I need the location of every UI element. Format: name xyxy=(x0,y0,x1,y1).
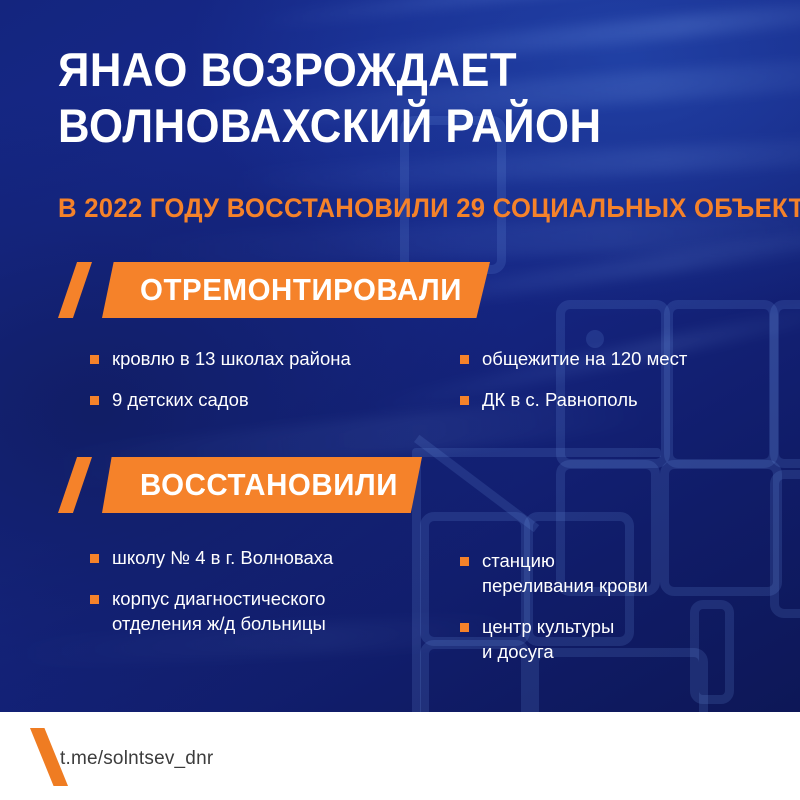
list-repaired-column-2: общежитие на 120 мест ДК в с. Равнополь xyxy=(460,346,780,412)
list-item: корпус диагностического отделения ж/д бо… xyxy=(90,586,430,636)
banner-shape: ОТРЕМОНТИРОВАЛИ xyxy=(102,262,490,318)
bullet-icon xyxy=(90,595,99,604)
page-subtitle: В 2022 ГОДУ ВОССТАНОВИЛИ 29 СОЦИАЛЬНЫХ О… xyxy=(58,192,800,224)
section-banner-restored: ВОССТАНОВИЛИ xyxy=(58,457,458,513)
infographic-poster: ЯНАО ВОЗРОЖДАЕТ ВОЛНОВАХСКИЙ РАЙОН В 202… xyxy=(0,0,800,800)
list-item-label: корпус диагностического отделения ж/д бо… xyxy=(112,586,326,636)
list-item-label: общежитие на 120 мест xyxy=(482,346,687,371)
bullet-icon xyxy=(460,623,469,632)
title-line-2: ВОЛНОВАХСКИЙ РАЙОН xyxy=(58,98,709,154)
list-item-label: кровлю в 13 школах района xyxy=(112,346,351,371)
banner-shape: ВОССТАНОВИЛИ xyxy=(102,457,422,513)
light-streak-icon xyxy=(249,0,800,32)
section-banner-repaired: ОТРЕМОНТИРОВАЛИ xyxy=(58,262,498,318)
list-item-label: школу № 4 в г. Волноваха xyxy=(112,545,333,570)
list-item: школу № 4 в г. Волноваха xyxy=(90,545,430,570)
list-item: 9 детских садов xyxy=(90,387,430,412)
bullet-icon xyxy=(90,355,99,364)
list-item-label: центр культуры и досуга xyxy=(482,614,614,664)
bullet-icon xyxy=(460,557,469,566)
banner-label: ВОССТАНОВИЛИ xyxy=(140,467,398,503)
list-item: общежитие на 120 мест xyxy=(460,346,780,371)
bullet-icon xyxy=(460,355,469,364)
list-item-label: станцию переливания крови xyxy=(482,548,648,598)
footer: t.me/solntsev_dnr ВОССТАНОВИМ ДОНБАСС ВМ… xyxy=(0,712,800,800)
banner-label: ОТРЕМОНТИРОВАЛИ xyxy=(140,272,462,308)
list-repaired-column-1: кровлю в 13 школах района 9 детских садо… xyxy=(90,346,430,412)
list-item: кровлю в 13 школах района xyxy=(90,346,430,371)
list-item-label: 9 детских садов xyxy=(112,387,249,412)
page-title: ЯНАО ВОЗРОЖДАЕТ ВОЛНОВАХСКИЙ РАЙОН xyxy=(58,42,758,154)
telegram-url[interactable]: t.me/solntsev_dnr xyxy=(60,748,213,770)
poster-background: ЯНАО ВОЗРОЖДАЕТ ВОЛНОВАХСКИЙ РАЙОН В 202… xyxy=(0,0,800,712)
list-item: центр культуры и досуга xyxy=(460,614,780,664)
list-item: станцию переливания крови xyxy=(460,548,780,598)
list-restored-column-2: станцию переливания крови центр культуры… xyxy=(460,548,780,664)
title-line-1: ЯНАО ВОЗРОЖДАЕТ xyxy=(58,42,709,98)
bullet-icon xyxy=(90,554,99,563)
chevron-accent-icon xyxy=(58,262,92,318)
list-item: ДК в с. Равнополь xyxy=(460,387,780,412)
list-restored-column-1: школу № 4 в г. Волноваха корпус диагност… xyxy=(90,545,430,636)
chevron-accent-icon xyxy=(58,457,92,513)
bullet-icon xyxy=(460,396,469,405)
list-item-label: ДК в с. Равнополь xyxy=(482,387,638,412)
bullet-icon xyxy=(90,396,99,405)
